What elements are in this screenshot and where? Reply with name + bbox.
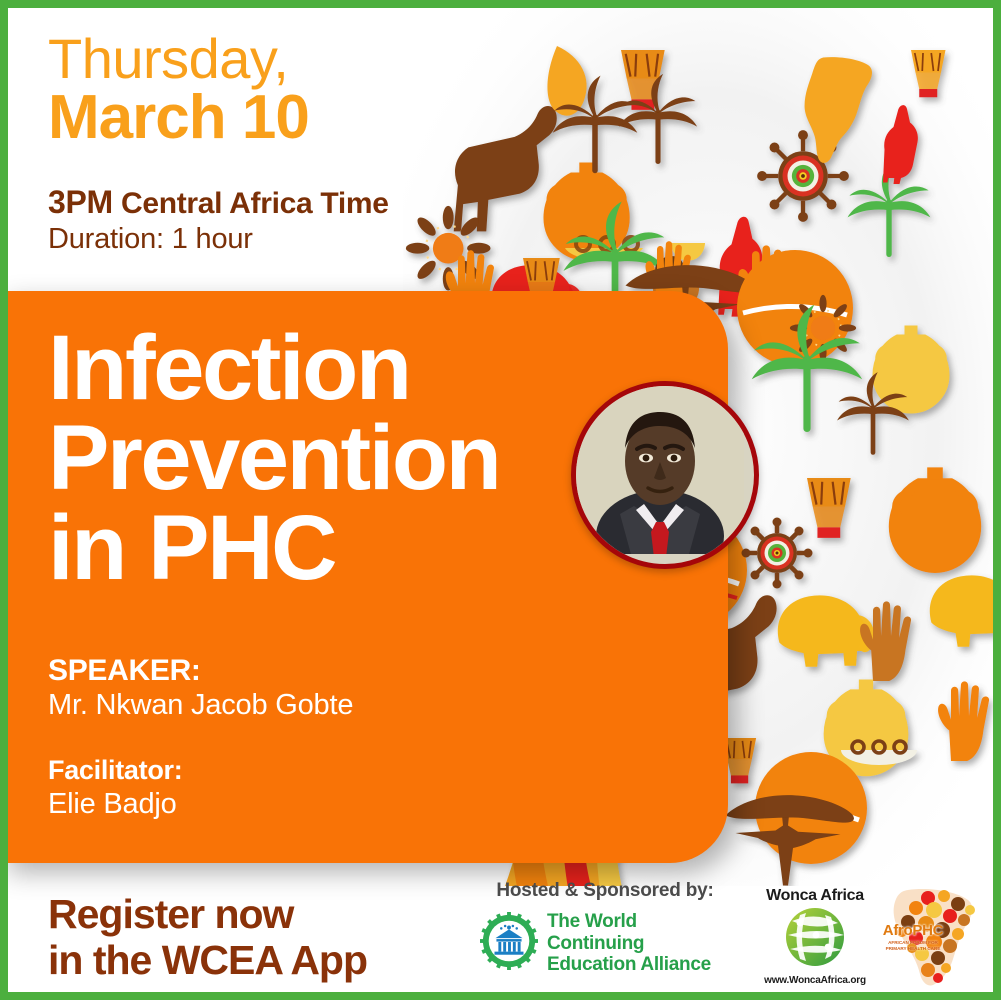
hosted-sponsored-label: Hosted & Sponsored by: (480, 880, 730, 902)
wonca-url: www.WoncaAfrica.org (756, 975, 874, 986)
afrophc-sub-line-1: AFRICAN FORUM FOR (882, 940, 944, 946)
afrophc-wordmark: AfroPHC AFRICAN FORUM FOR PRIMARY HEALTH… (882, 922, 944, 952)
wcea-logo: The World Continuing Education Alliance (480, 911, 730, 976)
partner-logos-block: Wonca Africa (756, 880, 992, 992)
wcea-line-1: The World Continuing (547, 911, 730, 954)
speaker-label: SPEAKER: (48, 653, 518, 688)
register-cta: Register now in the WCEA App (48, 892, 478, 984)
event-duration: Duration: 1 hour (48, 223, 478, 256)
register-line-1: Register now (48, 892, 478, 938)
wcea-name: The World Continuing Education Alliance (547, 911, 730, 976)
people-block: SPEAKER: Mr. Nkwan Jacob Gobte Facilitat… (48, 653, 518, 822)
wonca-globe-icon (778, 956, 852, 973)
speaker-portrait-icon (571, 381, 759, 569)
webinar-poster: Thursday, March 10 3PM Central Africa Ti… (0, 0, 1001, 1000)
wonca-name: Wonca Africa (756, 887, 874, 905)
afrophc-sub-line-2: PRIMARY HEALTH CARE (882, 946, 944, 952)
orange-content-panel: Infection Prevention in PHC SPEAKER: Mr.… (0, 291, 728, 863)
wcea-seal-icon (480, 912, 538, 975)
speaker-name: Mr. Nkwan Jacob Gobte (48, 688, 518, 723)
event-time-line: 3PM Central Africa Time (48, 184, 478, 221)
afrophc-subtitle: AFRICAN FORUM FOR PRIMARY HEALTH CARE (882, 940, 944, 952)
event-date-block: Thursday, March 10 3PM Central Africa Ti… (48, 30, 478, 256)
wonca-logo: Wonca Africa (756, 887, 874, 986)
wcea-line-2: Education Alliance (547, 954, 730, 976)
register-line-2: in the WCEA App (48, 938, 478, 984)
event-time: 3PM (48, 184, 113, 220)
event-month-day: March 10 (48, 85, 478, 150)
sponsors-block: Hosted & Sponsored by: (480, 880, 730, 976)
facilitator-name: Elie Badjo (48, 787, 518, 822)
event-timezone: Central Africa Time (121, 187, 389, 220)
afrophc-title: AfroPHC (882, 922, 944, 939)
facilitator-label: Facilitator: (48, 755, 518, 787)
event-weekday: Thursday, (48, 30, 478, 87)
afrophc-logo: AfroPHC AFRICAN FORUM FOR PRIMARY HEALTH… (878, 884, 990, 989)
